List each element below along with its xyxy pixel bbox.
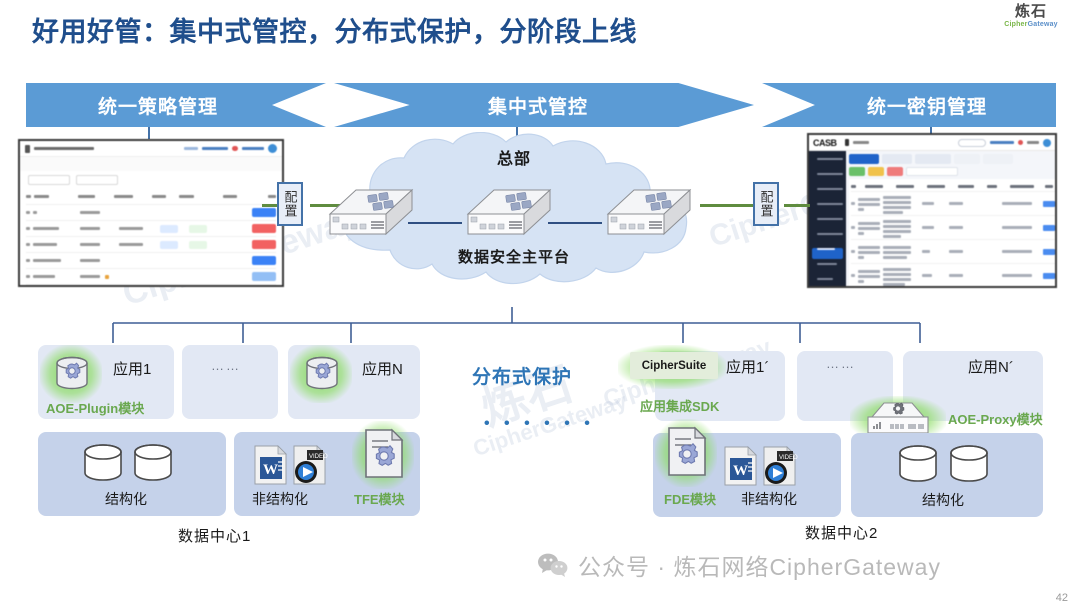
file-gear-icon	[362, 427, 406, 486]
db-gear-icon	[302, 355, 342, 398]
row-link[interactable]	[1043, 225, 1055, 231]
right-console-filter-chips[interactable]	[849, 167, 1057, 176]
dc1-app2-label: ……	[211, 358, 241, 373]
chip-green[interactable]	[849, 167, 865, 176]
chip-red[interactable]	[887, 167, 903, 176]
dc1-tfe-label: TFE模块	[354, 489, 405, 508]
server-icon-3	[600, 184, 694, 240]
svg-text:W: W	[733, 463, 748, 479]
config-box-left-label: 配置	[284, 190, 297, 218]
footer-text: 公众号 · 炼石网络CipherGateway	[578, 548, 941, 582]
banner-segment-policy-label: 统一策略管理	[98, 92, 218, 119]
cloud-subtitle: 数据安全主平台	[312, 246, 716, 267]
left-console-topbar	[20, 141, 282, 157]
config-box-left[interactable]: 配置	[277, 182, 303, 226]
dc1-appN-label: 应用N	[362, 358, 403, 379]
tab[interactable]	[983, 154, 1013, 164]
sidebar-item-active[interactable]	[812, 248, 843, 259]
row-action-button[interactable]	[252, 272, 276, 281]
brand-name-en: CipherGateway	[992, 21, 1070, 29]
sidebar-item[interactable]	[812, 188, 843, 199]
brand-en-part2: Gateway	[1028, 21, 1058, 28]
left-console-filters[interactable]	[20, 171, 282, 189]
ciphersuite-badge-label: CipherSuite	[642, 360, 707, 372]
svg-text:VIDEO: VIDEO	[309, 454, 328, 460]
banner-segment-central[interactable]: 集中式管控	[334, 83, 754, 127]
brand-en-part1: Cipher	[1004, 21, 1027, 28]
table-row[interactable]	[851, 216, 1055, 240]
sidebar-item[interactable]	[812, 233, 843, 244]
dc1-caption: 数据中心1	[178, 525, 251, 546]
left-console-screenshot[interactable]	[18, 139, 284, 287]
table-row[interactable]	[26, 285, 276, 287]
banner: 统一策略管理 集中式管控 统一密钥管理	[26, 83, 1056, 127]
green-link-right-b	[784, 204, 810, 207]
dc2-appN-label: 应用N´	[968, 356, 1014, 377]
word-video-icon: W VIDEO	[252, 442, 338, 493]
config-box-right-label: 配置	[760, 190, 773, 218]
left-console-table-header	[26, 189, 276, 205]
database-icon	[895, 444, 941, 491]
table-row[interactable]	[26, 269, 276, 285]
file-gear-icon	[665, 425, 709, 484]
svg-text:VIDEO: VIDEO	[779, 455, 798, 461]
brand-name-cn: 炼石	[992, 4, 1070, 20]
footer: 公众号 · 炼石网络CipherGateway	[537, 548, 941, 582]
right-console-tabs[interactable]	[849, 154, 1057, 164]
dc1-app1-label: 应用1	[113, 358, 151, 379]
wechat-icon	[537, 552, 569, 578]
tab[interactable]	[915, 154, 951, 164]
sidebar-item[interactable]	[812, 158, 843, 169]
cloud-title: 总部	[312, 145, 716, 169]
database-icon	[946, 444, 992, 491]
left-console-table	[20, 189, 282, 287]
table-row[interactable]	[26, 253, 276, 269]
casb-logo: CASB	[813, 138, 837, 148]
ciphersuite-badge: CipherSuite	[630, 352, 718, 379]
left-console-subbar	[20, 157, 282, 171]
row-action-button[interactable]	[252, 208, 276, 217]
row-link[interactable]	[1043, 201, 1055, 207]
dc2-app2-label: ……	[826, 356, 856, 371]
row-action-button[interactable]	[252, 240, 276, 249]
server-link-2	[548, 222, 602, 224]
banner-segment-policy[interactable]: 统一策略管理	[26, 83, 326, 127]
banner-segment-key-label: 统一密钥管理	[867, 92, 987, 119]
brand-logo: 炼石 CipherGateway	[992, 4, 1070, 29]
dc2-caption: 数据中心2	[805, 522, 878, 543]
search-input[interactable]	[906, 167, 958, 176]
tab[interactable]	[954, 154, 980, 164]
word-video-icon: W VIDEO	[722, 443, 808, 494]
sidebar-item[interactable]	[812, 278, 843, 288]
dc1-unstructured-label: 非结构化	[252, 489, 308, 509]
server-icon-2	[460, 184, 554, 240]
database-icon	[130, 443, 176, 490]
distributed-protection-dots: • • • • • •	[484, 415, 595, 433]
banner-tick-left	[148, 127, 150, 139]
dc1-structured-label: 结构化	[105, 489, 147, 509]
row-link[interactable]	[1043, 249, 1055, 255]
dc2-app1-label: 应用1´	[726, 356, 769, 377]
right-console-main	[846, 151, 1057, 288]
server-icon-1	[322, 184, 416, 240]
page-title: 好用好管：集中式管控，分布式保护，分阶段上线	[32, 10, 637, 49]
sidebar-item[interactable]	[812, 203, 843, 214]
row-link[interactable]	[1043, 273, 1055, 279]
right-console-body	[809, 151, 1055, 288]
row-action-button[interactable]	[252, 256, 276, 265]
right-console-table	[849, 179, 1057, 288]
banner-segment-key[interactable]: 统一密钥管理	[762, 83, 1056, 127]
right-console-screenshot[interactable]: CASB	[807, 133, 1057, 288]
tab[interactable]	[882, 154, 912, 164]
tab-active[interactable]	[849, 154, 879, 164]
table-row[interactable]	[26, 237, 276, 253]
dc2-structured-label: 结构化	[922, 490, 964, 510]
svg-text:W: W	[263, 462, 278, 478]
database-icon	[80, 443, 126, 490]
config-box-right[interactable]: 配置	[753, 182, 779, 226]
table-row[interactable]	[851, 264, 1055, 288]
dc2-fde-label: FDE模块	[664, 489, 716, 508]
dc1-app1-module: AOE-Plugin模块	[46, 398, 144, 417]
left-console-select-1[interactable]	[28, 175, 70, 185]
table-row[interactable]	[851, 192, 1055, 216]
cloud-datacenter: 总部 数据安全主平台	[312, 132, 716, 292]
page-number: 42	[1056, 592, 1068, 604]
dc2-appN-module: AOE-Proxy模块	[948, 409, 1043, 428]
tree-connector	[0, 285, 1080, 345]
left-console-select-2[interactable]	[76, 175, 118, 185]
table-row[interactable]	[26, 205, 276, 221]
row-action-button[interactable]	[252, 224, 276, 233]
sidebar-item[interactable]	[812, 173, 843, 184]
chip-yellow[interactable]	[868, 167, 884, 176]
distributed-protection-title: 分布式保护	[472, 362, 572, 389]
right-console-topbar: CASB	[809, 135, 1055, 151]
dc1-app2-box[interactable]	[182, 345, 278, 419]
banner-segment-central-label: 集中式管控	[488, 92, 588, 119]
sidebar-item[interactable]	[812, 263, 843, 274]
db-gear-icon	[52, 355, 92, 398]
slide-canvas: 好用好管：集中式管控，分布式保护，分阶段上线 炼石 CipherGateway …	[0, 0, 1080, 608]
table-row[interactable]	[851, 240, 1055, 264]
server-link-1	[408, 222, 462, 224]
dc2-app1-module: 应用集成SDK	[640, 396, 719, 415]
dc2-unstructured-label: 非结构化	[741, 489, 797, 509]
table-header	[851, 181, 1055, 192]
right-console-sidebar[interactable]	[809, 151, 846, 288]
sidebar-item[interactable]	[812, 218, 843, 229]
table-row[interactable]	[26, 221, 276, 237]
